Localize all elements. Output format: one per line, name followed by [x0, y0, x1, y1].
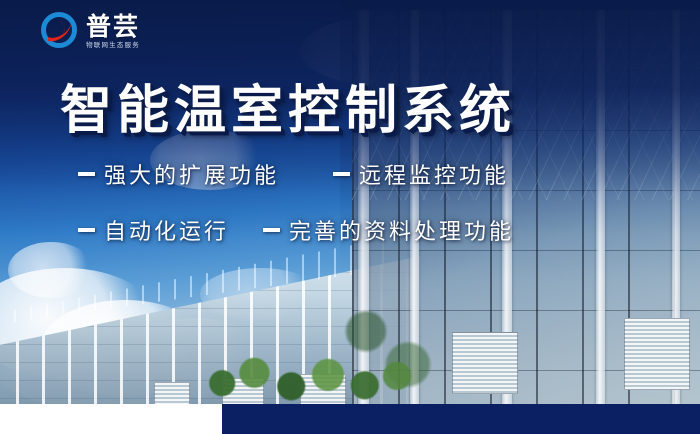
dash-marker-icon	[263, 228, 280, 232]
feature-row: 强大的扩展功能 远程监控功能	[78, 152, 598, 196]
feature-label: 自动化运行	[104, 214, 229, 246]
brand-logo[interactable]: 普芸 物联网生态服务	[38, 8, 198, 54]
feature-item-data-processing: 完善的资料处理功能	[263, 214, 514, 246]
feature-label: 远程监控功能	[359, 158, 509, 190]
dash-marker-icon	[78, 172, 95, 176]
feature-row: 自动化运行 完善的资料处理功能	[78, 208, 598, 252]
promo-banner: 普芸 物联网生态服务 智能温室控制系统 强大的扩展功能 远程监控功能 自动化运行	[0, 0, 700, 434]
logo-tagline: 物联网生态服务	[86, 43, 140, 50]
feature-label: 完善的资料处理功能	[289, 214, 514, 246]
logo-brand-name: 普芸	[86, 15, 140, 40]
dash-marker-icon	[78, 228, 95, 232]
feature-label: 强大的扩展功能	[104, 158, 279, 190]
dash-marker-icon	[333, 172, 350, 176]
logo-text: 普芸 物联网生态服务	[86, 13, 140, 50]
feature-item-automation: 自动化运行	[78, 214, 229, 246]
circular-swoosh-logo-icon	[38, 10, 80, 52]
feature-list: 强大的扩展功能 远程监控功能 自动化运行 完善的资料处理功能	[78, 152, 598, 252]
footer-band-white	[0, 404, 222, 434]
footer-band-navy	[222, 404, 700, 434]
feature-item-remote-monitoring: 远程监控功能	[333, 158, 509, 190]
feature-item-expandability: 强大的扩展功能	[78, 158, 279, 190]
page-title: 智能温室控制系统	[60, 68, 640, 143]
